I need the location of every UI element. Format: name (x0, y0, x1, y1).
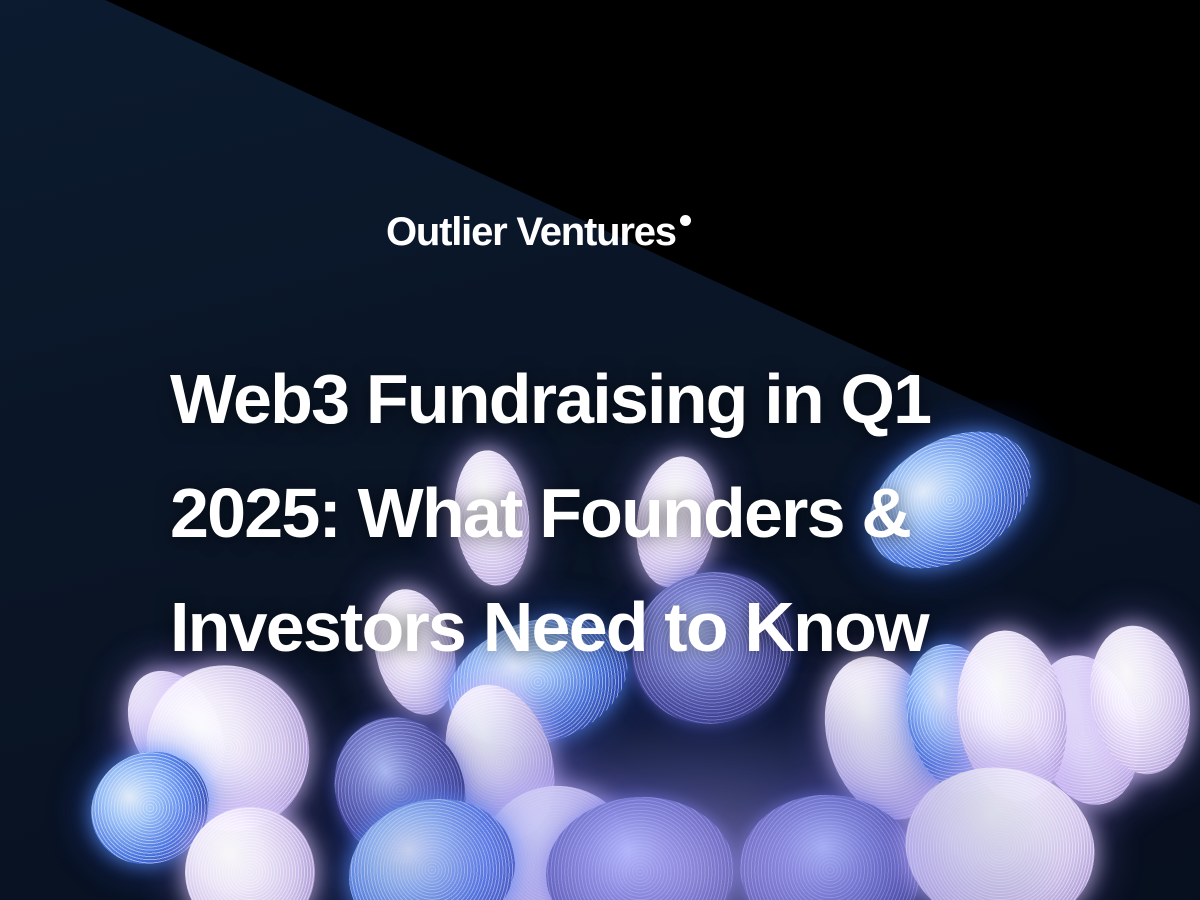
brand-dot-icon (680, 215, 691, 226)
headline-line-2: 2025: What Founders & (170, 456, 1050, 570)
headline-line-1: Web3 Fundraising in Q1 (170, 342, 1050, 456)
headline-line-3: Investors Need to Know (170, 570, 1050, 684)
page-title: Web3 Fundraising in Q1 2025: What Founde… (170, 342, 1050, 684)
coin-cluster-glow (330, 690, 1050, 900)
social-share-card: Outlier Ventures Web3 Fundraising in Q1 … (0, 0, 1200, 900)
brand-logo[interactable]: Outlier Ventures (386, 212, 691, 252)
brand-logo-text: Outlier Ventures (386, 212, 676, 252)
